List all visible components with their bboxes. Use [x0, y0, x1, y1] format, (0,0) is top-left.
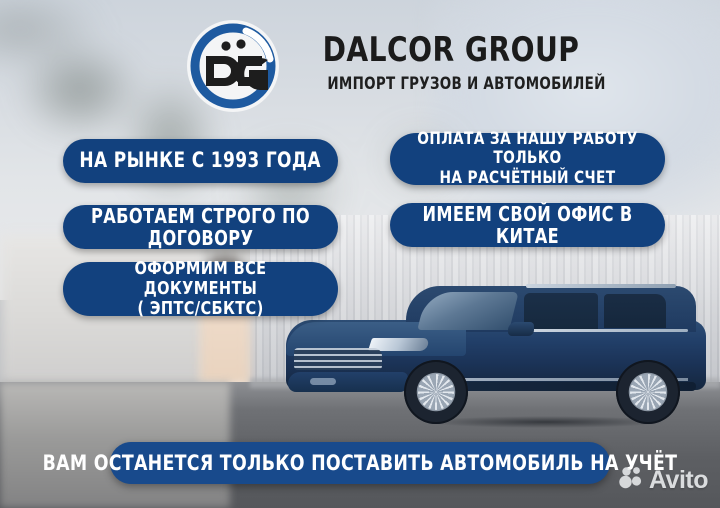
badge-documents-label: ОФОРМИМ ВСЕ ДОКУМЕНТЫ ( ЭПТС/СБКТС) — [77, 259, 325, 319]
brand-header: DALCOR GROUP ИМПОРТ ГРУЗОВ И АВТОМОБИЛЕЙ — [0, 0, 720, 118]
car-grille — [294, 348, 382, 370]
car-photo-subject — [286, 286, 706, 411]
brand-text-block: DALCOR GROUP ИМПОРТ ГРУЗОВ И АВТОМОБИЛЕЙ — [313, 30, 553, 95]
car-side-mirror — [508, 322, 534, 336]
car-rear-window — [604, 294, 666, 328]
car-rear-wheel-hub — [630, 374, 666, 410]
car-rear-wheel — [616, 360, 680, 424]
car-foglight — [310, 378, 336, 385]
advertisement-banner: DALCOR GROUP ИМПОРТ ГРУЗОВ И АВТОМОБИЛЕЙ… — [0, 0, 720, 508]
car-front-wheel-hub — [418, 374, 454, 410]
avito-watermark: Avito — [618, 465, 708, 496]
badge-market-label: НА РЫНКЕ С 1993 ГОДА — [80, 149, 321, 173]
bottom-banner: ВАМ ОСТАНЕТСЯ ТОЛЬКО ПОСТАВИТЬ АВТОМОБИЛ… — [110, 442, 610, 484]
avito-wordmark: Avito — [649, 466, 708, 495]
avito-dots-logo-icon — [618, 465, 644, 496]
badge-china-office: ИМЕЕМ СВОЙ ОФИС В КИТАЕ — [390, 203, 665, 247]
badge-market-since: НА РЫНКЕ С 1993 ГОДА — [63, 139, 338, 183]
badge-china-office-label: ИМЕЕМ СВОЙ ОФИС В КИТАЕ — [404, 203, 652, 248]
car-front-wheel — [404, 360, 468, 424]
badge-payment-label: ОПЛАТА ЗА НАШУ РАБОТУ ТОЛЬКО НА РАСЧЁТНЫ… — [404, 130, 652, 187]
page-title: DALCOR GROUP — [323, 30, 544, 70]
car-front-bumper — [288, 372, 408, 392]
dg-monogram-ring-logo-icon — [186, 19, 280, 113]
badge-payment: ОПЛАТА ЗА НАШУ РАБОТУ ТОЛЬКО НА РАСЧЁТНЫ… — [390, 133, 665, 185]
brand-subtitle: ИМПОРТ ГРУЗОВ И АВТОМОБИЛЕЙ — [327, 73, 538, 95]
car-roof-rail — [526, 284, 676, 288]
badge-contract-label: РАБОТАЕМ СТРОГО ПО ДОГОВОРУ — [77, 205, 325, 250]
badge-documents: ОФОРМИМ ВСЕ ДОКУМЕНТЫ ( ЭПТС/СБКТС) — [63, 262, 338, 316]
car-front-window — [524, 293, 598, 329]
bottom-banner-label: ВАМ ОСТАНЕТСЯ ТОЛЬКО ПОСТАВИТЬ АВТОМОБИЛ… — [43, 451, 678, 475]
car-chrome-beltline — [518, 329, 688, 332]
badge-contract: РАБОТАЕМ СТРОГО ПО ДОГОВОРУ — [63, 205, 338, 249]
